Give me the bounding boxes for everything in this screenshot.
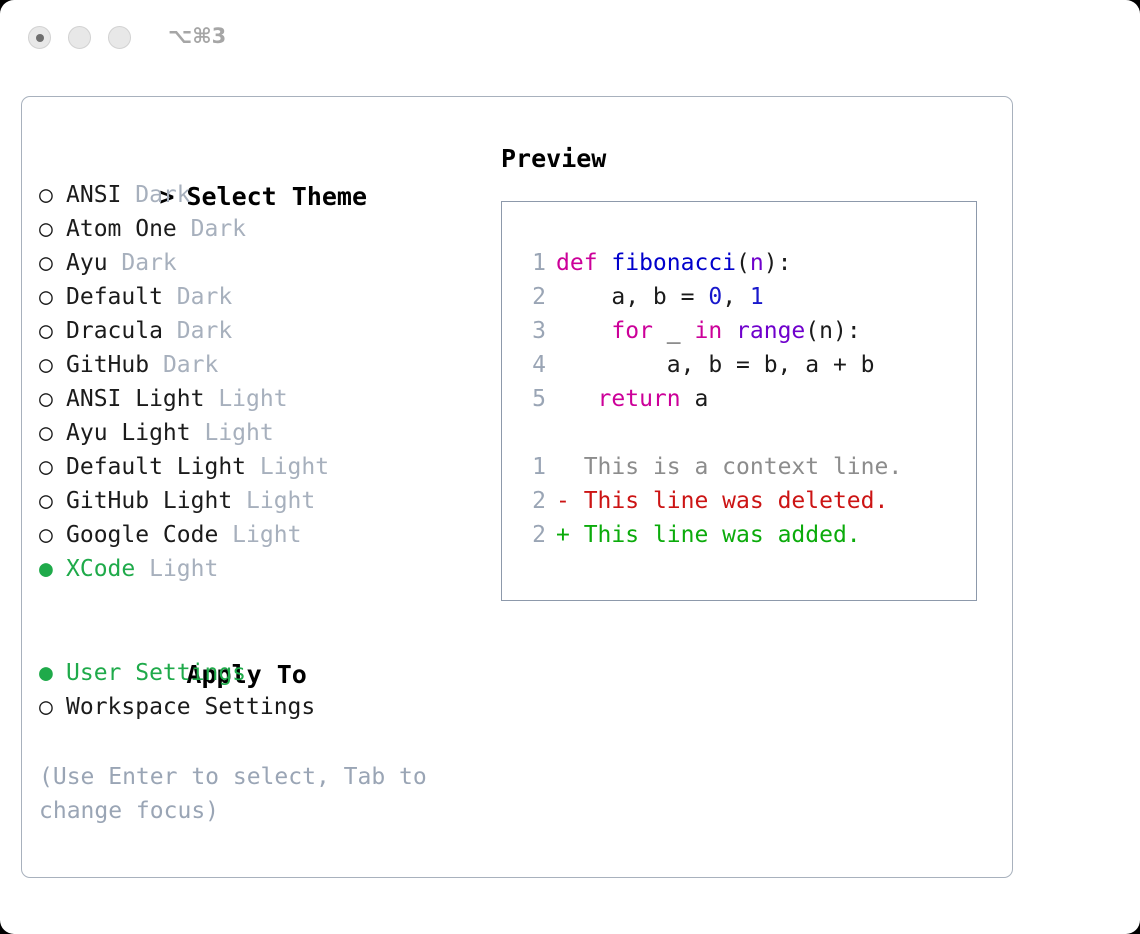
diff-text: This line was added. [570, 522, 861, 548]
code-token-function: fibonacci [611, 250, 736, 276]
radio-selected-icon: ● [39, 552, 66, 586]
radio-unselected-icon: ○ [39, 348, 66, 382]
diff-line-context: 1 This is a context line. [519, 450, 968, 484]
apply-to-label: User Settings [66, 660, 246, 686]
code-token-plain: _ [653, 318, 695, 344]
theme-list-item[interactable]: ○GitHub Dark [39, 348, 479, 382]
code-token-number: 0 [708, 284, 722, 310]
theme-selection-column: >Select Theme ○ANSI Dark○Atom One Dark○A… [39, 140, 479, 828]
theme-name-label: GitHub Light [66, 488, 232, 514]
select-theme-header-label: Select Theme [186, 182, 367, 211]
theme-list-item[interactable]: ●XCode Light [39, 552, 479, 586]
traffic-light-inactive-icon-3[interactable] [108, 26, 131, 49]
line-number: 2 [519, 484, 546, 518]
traffic-light-inactive-icon-2[interactable] [68, 26, 91, 49]
radio-unselected-icon: ○ [39, 690, 66, 724]
code-blank-line [519, 416, 968, 450]
traffic-light-active-icon[interactable] [28, 26, 51, 49]
code-token-plain: a [681, 386, 709, 412]
code-token-punct: ( [736, 250, 750, 276]
radio-unselected-icon: ○ [39, 450, 66, 484]
diff-sign [556, 454, 570, 480]
theme-name-label: GitHub [66, 352, 149, 378]
theme-kind-label: Light [191, 420, 274, 446]
code-line: 5 return a [519, 382, 968, 416]
theme-name-label: Ayu [66, 250, 108, 276]
theme-picker-panel: >Select Theme ○ANSI Dark○Atom One Dark○A… [21, 96, 1013, 878]
theme-kind-label: Dark [163, 284, 232, 310]
theme-list-item[interactable]: ○Dracula Dark [39, 314, 479, 348]
code-token-plain: , [722, 284, 750, 310]
apply-to-header: Apply To [39, 618, 479, 656]
code-token-keyword: for [611, 318, 653, 344]
theme-kind-label: Dark [108, 250, 177, 276]
theme-kind-label: Light [246, 454, 329, 480]
code-token-punct: (n): [805, 318, 860, 344]
theme-list: ○ANSI Dark○Atom One Dark○Ayu Dark○Defaul… [39, 178, 479, 586]
diff-line-deleted: 2- This line was deleted. [519, 484, 968, 518]
code-token-plain [722, 318, 736, 344]
theme-list-item[interactable]: ○Atom One Dark [39, 212, 479, 246]
radio-unselected-icon: ○ [39, 314, 66, 348]
diff-sign: - [556, 488, 570, 514]
keyboard-hint-text: (Use Enter to select, Tab to change focu… [39, 760, 449, 828]
preview-box: 1def fibonacci(n):2 a, b = 0, 13 for _ i… [501, 201, 977, 601]
code-token-variable: n [750, 250, 764, 276]
code-token-plain [556, 386, 598, 412]
theme-kind-label: Light [232, 488, 315, 514]
theme-list-item[interactable]: ○Ayu Light Light [39, 416, 479, 450]
code-token-keyword: return [598, 386, 681, 412]
theme-kind-label: Dark [149, 352, 218, 378]
line-number: 5 [519, 382, 546, 416]
theme-name-label: ANSI [66, 182, 121, 208]
theme-kind-label: Dark [121, 182, 190, 208]
preview-title: Preview [501, 140, 991, 178]
theme-name-label: Google Code [66, 522, 218, 548]
radio-unselected-icon: ○ [39, 382, 66, 416]
theme-kind-label: Light [218, 522, 301, 548]
code-token-plain: a, b = [556, 284, 708, 310]
keyboard-shortcut-label: ⌥⌘3 [168, 24, 226, 48]
theme-list-item[interactable]: ○Default Light Light [39, 450, 479, 484]
diff-sign: + [556, 522, 570, 548]
theme-list-item[interactable]: ○Google Code Light [39, 518, 479, 552]
diff-text: This is a context line. [570, 454, 902, 480]
select-theme-header: >Select Theme [39, 140, 479, 178]
theme-kind-label: Light [204, 386, 287, 412]
line-number: 1 [519, 450, 546, 484]
line-number: 4 [519, 348, 546, 382]
apply-to-item[interactable]: ○Workspace Settings [39, 690, 479, 724]
theme-name-label: Ayu Light [66, 420, 191, 446]
app-window: ⌥⌘3 >Select Theme ○ANSI Dark○Atom One Da… [0, 0, 1140, 934]
theme-list-item[interactable]: ○ANSI Light Light [39, 382, 479, 416]
code-token-keyword: def [556, 250, 611, 276]
code-token-plain: a, b = b, a + b [556, 352, 875, 378]
radio-unselected-icon: ○ [39, 518, 66, 552]
theme-name-label: Default Light [66, 454, 246, 480]
diff-line-added: 2+ This line was added. [519, 518, 968, 552]
radio-unselected-icon: ○ [39, 212, 66, 246]
code-token-plain [556, 318, 611, 344]
code-token-number: 1 [750, 284, 764, 310]
diff-text: This line was deleted. [570, 488, 889, 514]
theme-name-label: ANSI Light [66, 386, 204, 412]
code-token-variable: range [736, 318, 805, 344]
preview-column: Preview 1def fibonacci(n):2 a, b = 0, 13… [501, 140, 991, 601]
radio-unselected-icon: ○ [39, 484, 66, 518]
theme-name-label: Atom One [66, 216, 177, 242]
line-number: 2 [519, 280, 546, 314]
code-token-keyword: in [694, 318, 722, 344]
radio-unselected-icon: ○ [39, 280, 66, 314]
radio-selected-icon: ● [39, 656, 66, 690]
window-titlebar: ⌥⌘3 [0, 0, 1140, 78]
line-number: 1 [519, 246, 546, 280]
active-dot-inner [36, 34, 44, 42]
theme-kind-label: Dark [177, 216, 246, 242]
radio-unselected-icon: ○ [39, 178, 66, 212]
preview-code-area: 1def fibonacci(n):2 a, b = 0, 13 for _ i… [519, 246, 968, 552]
theme-list-item[interactable]: ○Default Dark [39, 280, 479, 314]
radio-unselected-icon: ○ [39, 246, 66, 280]
code-line: 3 for _ in range(n): [519, 314, 968, 348]
code-line: 4 a, b = b, a + b [519, 348, 968, 382]
theme-list-item[interactable]: ○Ayu Dark [39, 246, 479, 280]
code-line: 1def fibonacci(n): [519, 246, 968, 280]
radio-unselected-icon: ○ [39, 416, 66, 450]
theme-kind-label: Light [135, 556, 218, 582]
theme-kind-label: Dark [163, 318, 232, 344]
theme-name-label: Default [66, 284, 163, 310]
theme-name-label: Dracula [66, 318, 163, 344]
apply-to-label: Workspace Settings [66, 694, 315, 720]
code-token-punct: ): [764, 250, 792, 276]
line-number: 3 [519, 314, 546, 348]
code-line: 2 a, b = 0, 1 [519, 280, 968, 314]
theme-list-item[interactable]: ○GitHub Light Light [39, 484, 479, 518]
line-number: 2 [519, 518, 546, 552]
theme-name-label: XCode [66, 556, 135, 582]
